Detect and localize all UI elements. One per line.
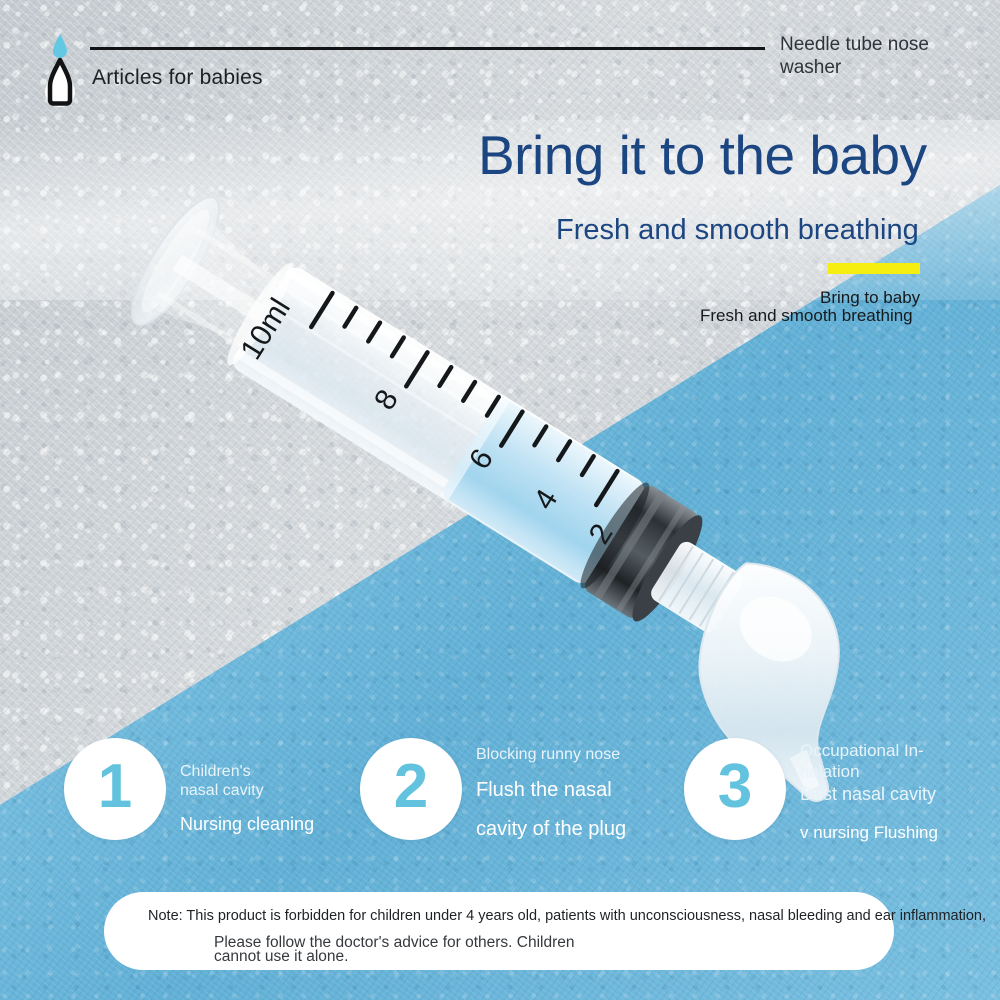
hero-title: Bring it to the baby [478, 124, 927, 186]
feature-1-line-main: Nursing cleaning [180, 811, 380, 837]
feature-2-line-top: Blocking runny nose [476, 745, 676, 764]
feature-number-circle-1: 1 [64, 738, 166, 840]
feature-2-line-main2: cavity of the plug [476, 816, 676, 842]
feature-3-line-top: Occupational In- [800, 740, 1000, 761]
disclaimer-note-box: Note: This product is forbidden for chil… [104, 892, 894, 970]
feature-number-1: 1 [98, 756, 132, 818]
feature-3-line-main: v nursing Flushing [800, 820, 1000, 846]
product-name-label: Needle tube nose washer [780, 33, 985, 79]
feature-text-1: Children's nasal cavity Nursing cleaning [180, 762, 380, 837]
hero-subtitle: Fresh and smooth breathing [556, 212, 919, 248]
feature-text-2: Blocking runny nose Flush the nasal cavi… [476, 745, 676, 842]
feature-number-circle-2: 2 [360, 738, 462, 840]
feature-2-line-main: Flush the nasal [476, 777, 676, 803]
feature-1-line-top2: nasal cavity [180, 781, 380, 800]
brand-label: Articles for babies [92, 66, 263, 90]
yellow-accent-bar [828, 263, 920, 274]
feature-number-3: 3 [718, 756, 752, 818]
header-divider-rule [90, 47, 765, 50]
feature-3-line-mid: Dust nasal cavity [800, 782, 1000, 806]
feature-text-3: Occupational In- halation Dust nasal cav… [800, 740, 1000, 846]
feature-1-line-top: Children's [180, 762, 380, 781]
note-line-1: Note: This product is forbidden for chil… [148, 907, 986, 925]
nasal-aspirator-drop-icon [38, 30, 82, 108]
feature-3-line-top2: halation [800, 761, 1000, 782]
feature-number-2: 2 [394, 756, 428, 818]
tagline-secondary: Fresh and smooth breathing [700, 305, 913, 326]
product-poster: Articles for babies Needle tube nose was… [0, 0, 1000, 1000]
feature-number-circle-3: 3 [684, 738, 786, 840]
note-line-3: cannot use it alone. [214, 947, 348, 966]
